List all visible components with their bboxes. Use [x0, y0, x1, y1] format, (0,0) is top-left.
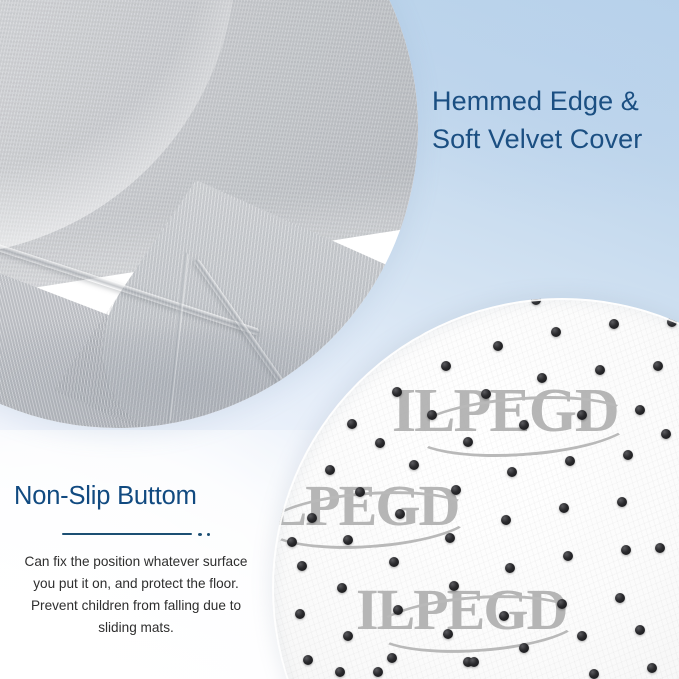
- divider-line: [62, 533, 192, 535]
- body-copy-line: sliding mats.: [4, 617, 268, 639]
- non-slip-mat-photo: ILPEGDILPEGDILPEGD: [272, 298, 679, 679]
- body-copy-line: Prevent children from falling due to: [4, 595, 268, 617]
- divider-dot-large: [198, 533, 202, 536]
- feature-heading-line-2: Soft Velvet Cover: [432, 120, 679, 158]
- heading-divider: [62, 531, 242, 539]
- product-infographic: ILPEGDILPEGDILPEGD Hemmed Edge & Soft Ve…: [0, 0, 679, 679]
- non-slip-dot: [443, 301, 453, 311]
- body-copy-line: you put it on, and protect the floor.: [4, 573, 268, 595]
- feature-heading-line-1: Hemmed Edge &: [432, 82, 679, 120]
- feature-heading-hemmed-edge: Hemmed Edge & Soft Velvet Cover: [432, 82, 679, 159]
- divider-dot-small: [207, 533, 210, 536]
- feature-body-copy: Can fix the position whatever surfaceyou…: [4, 551, 268, 639]
- body-copy-line: Can fix the position whatever surface: [4, 551, 268, 573]
- feature-heading-non-slip: Non-Slip Buttom: [14, 481, 264, 512]
